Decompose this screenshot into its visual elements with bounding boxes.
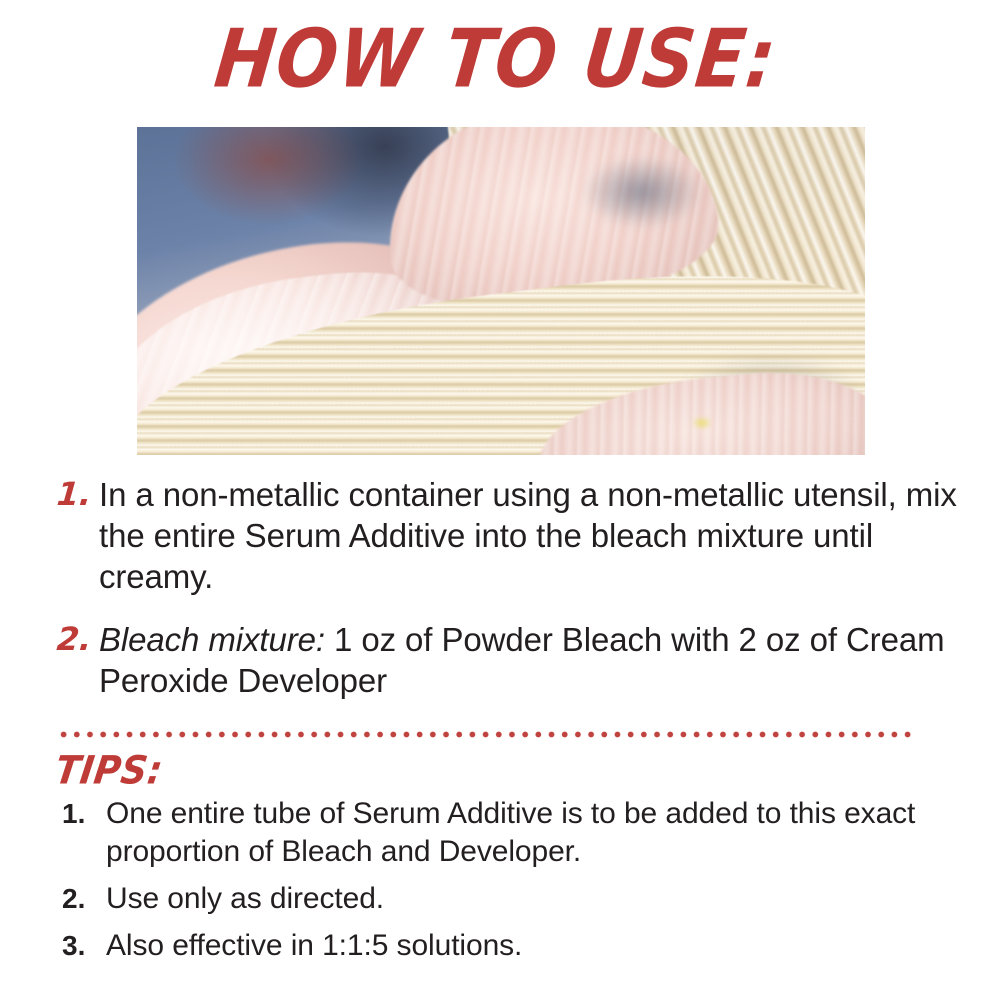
- list-item: 2. Use only as directed.: [62, 880, 962, 918]
- nail-highlight-shape: [689, 415, 715, 431]
- list-item: 1. In a non-metallic container using a n…: [57, 474, 957, 597]
- tip-text: Also effective in 1:1:5 solutions.: [106, 927, 962, 965]
- how-to-use-panel: HOW TO USE: 1. In a non-metallic contain…: [0, 0, 1000, 1000]
- page-title: HOW TO USE:: [0, 18, 1000, 99]
- tip-number: 1.: [62, 795, 106, 833]
- tips-heading: TIPS:: [53, 752, 166, 791]
- step-emphasis: Bleach mixture:: [99, 621, 325, 658]
- tip-number: 3.: [62, 927, 106, 965]
- finger-shadow-shape: [567, 147, 717, 237]
- step-body: In a non-metallic container using a non-…: [99, 476, 957, 595]
- steps-list: 1. In a non-metallic container using a n…: [57, 474, 957, 723]
- step-number: 1.: [55, 474, 101, 515]
- list-item: 2. Bleach mixture: 1 oz of Powder Bleach…: [57, 619, 957, 701]
- tip-number: 2.: [62, 880, 106, 918]
- list-item: 3. Also effective in 1:1:5 solutions.: [62, 927, 962, 965]
- step-number: 2.: [55, 619, 101, 660]
- step-text: Bleach mixture: 1 oz of Powder Bleach wi…: [99, 619, 957, 701]
- tip-text: Use only as directed.: [106, 880, 962, 918]
- list-item: 1. One entire tube of Serum Additive is …: [62, 795, 962, 871]
- dotted-divider: [57, 731, 915, 738]
- photo-background: [137, 127, 865, 455]
- bleached-hair-photo: [137, 127, 865, 455]
- tips-list: 1. One entire tube of Serum Additive is …: [62, 795, 962, 974]
- step-text: In a non-metallic container using a non-…: [99, 474, 957, 597]
- tip-text: One entire tube of Serum Additive is to …: [106, 795, 962, 871]
